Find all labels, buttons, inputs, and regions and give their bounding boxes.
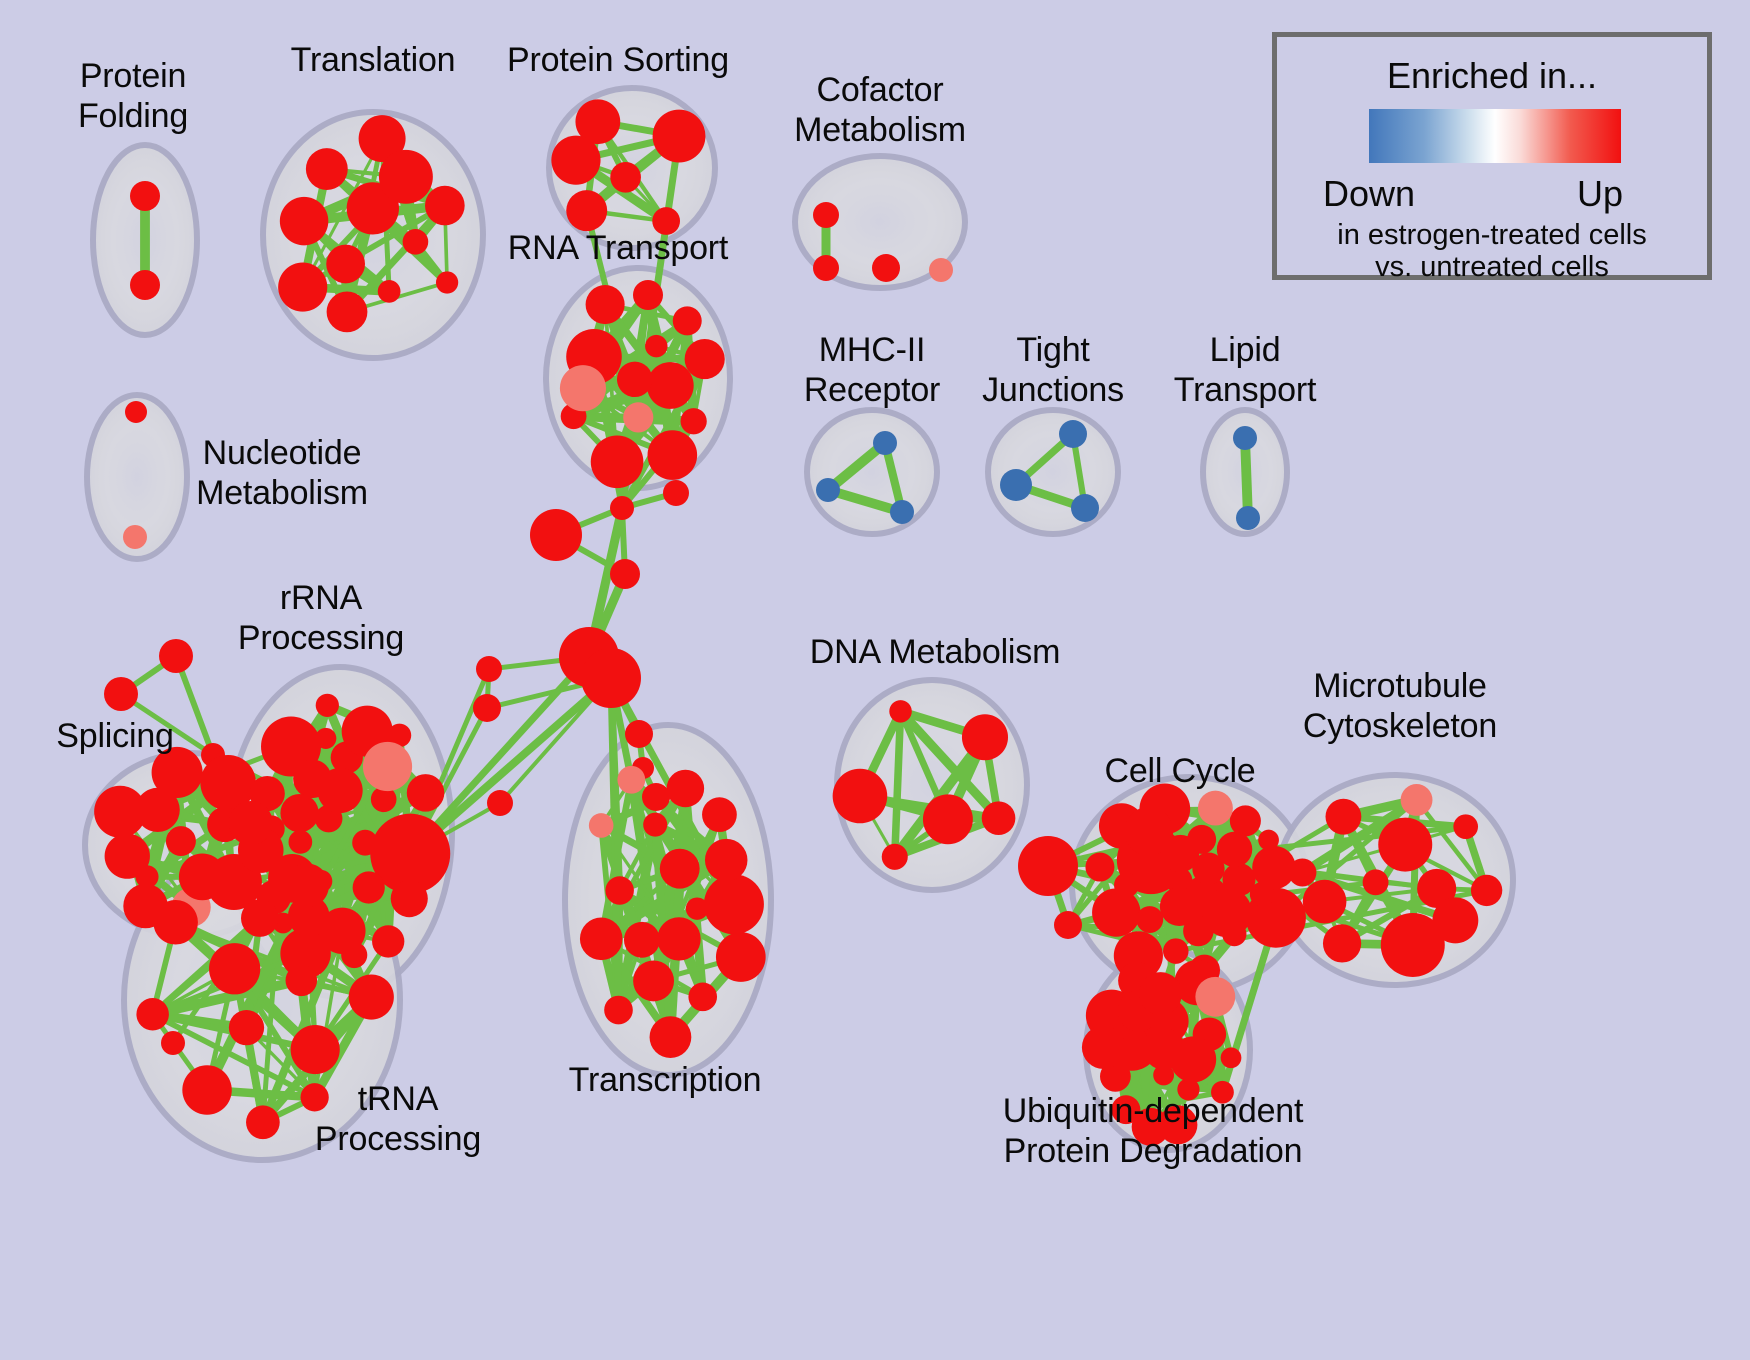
network-node: [286, 965, 318, 997]
network-node: [1163, 938, 1189, 964]
network-node: [610, 559, 640, 589]
network-node: [617, 766, 645, 794]
network-node: [1082, 1026, 1125, 1069]
network-node: [473, 694, 501, 722]
network-node: [624, 922, 660, 958]
network-node: [685, 339, 725, 379]
network-node: [241, 899, 278, 936]
network-node: [962, 714, 1008, 760]
network-node: [315, 728, 336, 749]
network-node: [316, 694, 339, 717]
network-node: [530, 509, 582, 561]
network-node: [1114, 873, 1139, 898]
network-node: [560, 365, 606, 411]
network-node: [581, 648, 641, 708]
network-node: [1250, 882, 1275, 907]
legend-title: Enriched in...: [1277, 55, 1707, 97]
cluster-ellipse-mhc-ii-receptor: [807, 410, 937, 534]
network-node: [1471, 875, 1502, 906]
network-node: [633, 960, 674, 1001]
network-node: [688, 983, 717, 1012]
network-node: [610, 162, 641, 193]
network-node: [1192, 852, 1224, 884]
network-node: [589, 813, 614, 838]
network-node: [1059, 420, 1087, 448]
network-node: [633, 280, 663, 310]
network-node: [1326, 799, 1362, 835]
network-node: [647, 362, 694, 409]
network-node: [716, 932, 766, 982]
network-node: [363, 742, 412, 791]
network-node: [702, 797, 737, 832]
network-node: [391, 880, 428, 917]
network-node: [605, 876, 633, 904]
network-node: [403, 229, 429, 255]
network-node: [476, 656, 502, 682]
network-node: [306, 148, 348, 190]
network-node: [1233, 426, 1257, 450]
network-edge: [1245, 438, 1248, 518]
network-node: [136, 788, 180, 832]
network-node: [586, 285, 625, 324]
network-node: [890, 500, 914, 524]
network-node: [291, 1025, 340, 1074]
network-node: [650, 1016, 692, 1058]
network-node: [123, 525, 147, 549]
network-node: [1323, 924, 1361, 962]
network-node: [591, 435, 644, 488]
network-node: [1211, 1081, 1234, 1104]
network-node: [1303, 880, 1347, 924]
network-node: [161, 1031, 185, 1055]
network-node: [667, 770, 704, 807]
network-node: [1054, 911, 1082, 939]
network-node: [153, 900, 198, 945]
network-node: [657, 917, 700, 960]
network-node: [1432, 897, 1478, 943]
network-node: [813, 202, 839, 228]
network-node: [425, 186, 465, 226]
network-node: [1198, 791, 1233, 826]
network-node: [704, 874, 764, 934]
legend-high-label: Up: [1577, 173, 1623, 215]
network-node: [317, 768, 362, 813]
network-node: [246, 1105, 280, 1139]
network-node: [349, 974, 394, 1019]
network-node: [285, 863, 329, 907]
network-node: [660, 849, 700, 889]
network-node: [1378, 818, 1432, 872]
network-node: [1453, 814, 1478, 839]
network-node: [125, 401, 147, 423]
network-node: [816, 478, 840, 502]
network-node: [1202, 888, 1251, 937]
network-node: [617, 362, 652, 397]
network-node: [623, 402, 653, 432]
network-node: [551, 136, 600, 185]
network-node: [1258, 830, 1279, 851]
network-node: [166, 826, 196, 856]
network-node: [179, 853, 226, 900]
network-node: [923, 794, 973, 844]
network-node: [1236, 506, 1260, 530]
network-node: [1132, 1108, 1170, 1146]
network-node: [300, 1083, 328, 1111]
network-node: [1085, 853, 1114, 882]
network-node: [645, 335, 667, 357]
network-node: [580, 918, 623, 961]
network-node: [653, 110, 706, 163]
network-node: [1018, 836, 1078, 896]
network-node: [566, 190, 607, 231]
legend-colorbar: [1369, 109, 1621, 163]
network-node: [319, 908, 365, 954]
legend-subtitle-line2: vs. untreated cells: [1277, 251, 1707, 284]
network-node: [1221, 1047, 1242, 1068]
network-node: [229, 1010, 264, 1045]
network-node: [889, 700, 911, 722]
network-node: [278, 263, 327, 312]
network-node: [407, 774, 445, 812]
network-node: [209, 943, 260, 994]
network-node: [1000, 469, 1032, 501]
network-node: [610, 496, 634, 520]
network-node: [487, 790, 513, 816]
network-node: [652, 207, 680, 235]
network-node: [130, 270, 160, 300]
network-node: [929, 258, 953, 282]
network-node: [159, 639, 193, 673]
network-node: [136, 865, 159, 888]
network-node: [813, 255, 839, 281]
network-node: [280, 794, 318, 832]
network-node: [353, 871, 385, 903]
network-node: [872, 254, 900, 282]
network-node: [136, 998, 168, 1030]
network-node: [1160, 887, 1199, 926]
pathway-network-figure: Protein FoldingTranslationProtein Sortin…: [0, 0, 1750, 1360]
network-node: [1139, 972, 1182, 1015]
network-node: [182, 1065, 231, 1114]
network-node: [229, 801, 273, 845]
network-node: [1195, 977, 1235, 1017]
network-node: [643, 813, 667, 837]
network-node: [705, 839, 747, 881]
network-node: [436, 271, 458, 293]
network-node: [327, 291, 368, 332]
legend-subtitle-line1: in estrogen-treated cells: [1277, 219, 1707, 252]
network-node: [625, 720, 653, 748]
network-node: [1363, 869, 1389, 895]
network-node: [289, 830, 313, 854]
legend-panel: Enriched in... Down Up in estrogen-treat…: [1272, 32, 1712, 280]
network-node: [833, 769, 888, 824]
network-node: [673, 306, 702, 335]
network-node: [280, 197, 328, 245]
network-node: [1401, 784, 1433, 816]
network-node: [681, 408, 707, 434]
network-node: [104, 677, 138, 711]
network-node: [604, 996, 633, 1025]
network-node: [1136, 906, 1163, 933]
network-node: [1071, 494, 1099, 522]
network-node: [1288, 858, 1316, 886]
legend-low-label: Down: [1323, 173, 1415, 215]
network-node: [372, 925, 404, 957]
network-node: [873, 431, 897, 455]
network-node: [352, 830, 378, 856]
network-node: [882, 844, 908, 870]
network-node: [686, 897, 708, 919]
network-node: [982, 801, 1016, 835]
network-node: [642, 783, 670, 811]
network-node: [378, 280, 401, 303]
network-node: [326, 245, 365, 284]
network-node: [648, 430, 698, 480]
network-node: [130, 181, 160, 211]
network-node: [1170, 1036, 1216, 1082]
network-node: [379, 150, 433, 204]
network-node: [663, 480, 689, 506]
